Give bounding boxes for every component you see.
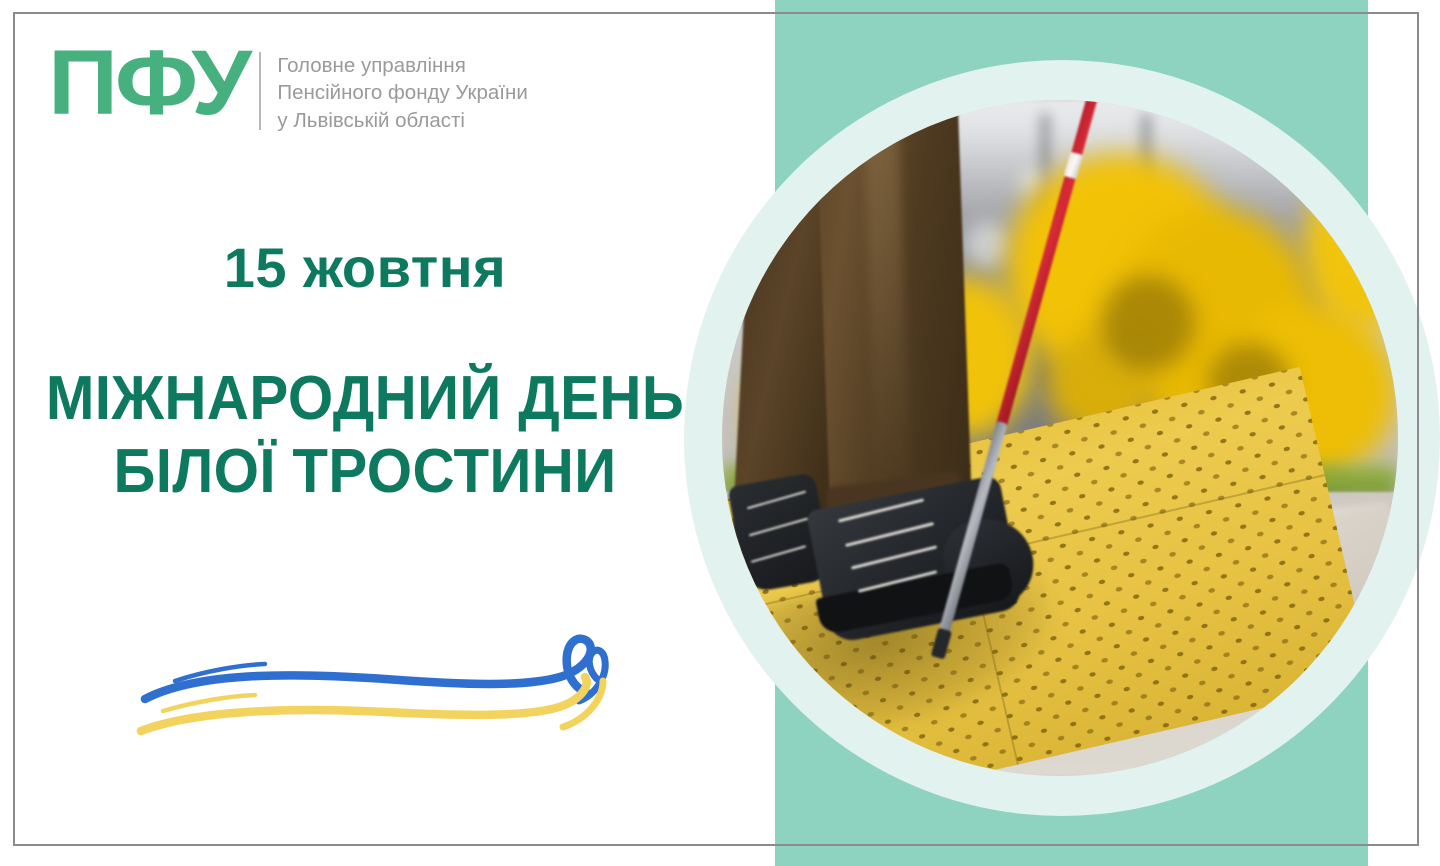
cane-grey-section [934, 421, 1008, 654]
event-title-line-1: МІЖНАРОДНИЙ ДЕНЬ [22, 364, 708, 433]
ribbon-svg [135, 615, 635, 740]
org-line-3: у Львівській області [277, 107, 527, 134]
organization-name: Головне управління Пенсійного фонду Укра… [277, 52, 527, 134]
pfu-logo-block: ПФУ Головне управління Пенсійного фонду … [48, 44, 528, 134]
cane-tip [931, 628, 952, 660]
headline-block: 15 жовтня МІЖНАРОДНИЙ ДЕНЬ БІЛОЇ ТРОСТИН… [0, 240, 730, 507]
pfu-logo-mark: ПФУ [48, 44, 249, 123]
org-line-1: Головне управління [277, 52, 527, 79]
org-line-2: Пенсійного фонду України [277, 79, 527, 106]
ukrainian-flag-ribbon [135, 615, 635, 740]
photo-circle-white-cane [722, 100, 1398, 776]
event-title: МІЖНАРОДНИЙ ДЕНЬ БІЛОЇ ТРОСТИНИ [22, 364, 708, 507]
event-title-line-2: БІЛОЇ ТРОСТИНИ [22, 437, 708, 506]
photo-content [722, 100, 1398, 776]
white-cane [935, 100, 1101, 648]
white-cane-layer [722, 100, 1398, 776]
cane-red-section [994, 100, 1101, 435]
cane-white-band [1064, 152, 1083, 180]
logo-divider [259, 52, 261, 130]
poster-canvas: ПФУ Головне управління Пенсійного фонду … [0, 0, 1440, 866]
event-date: 15 жовтня [0, 240, 730, 296]
